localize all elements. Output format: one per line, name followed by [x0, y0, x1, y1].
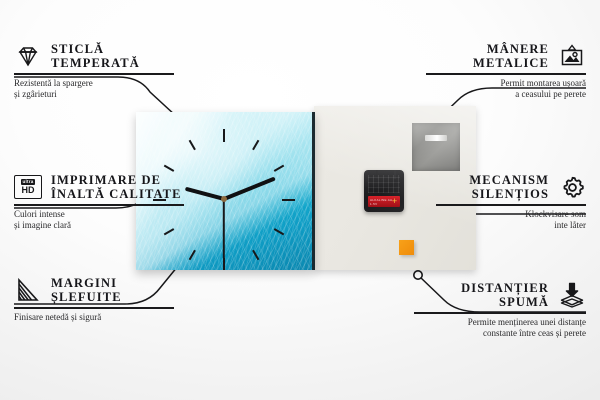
callout-title: MECANISM SILENȚIOS	[469, 173, 549, 201]
callout-sticla-temperata: STICLĂ TEMPERATĂ Rezistentă la spargere …	[14, 42, 174, 100]
callout-imprimare-inalta-calitate: ultra HD IMPRIMARE DE ÎNALTĂ CALITATE Cu…	[14, 173, 184, 231]
battery: ALKALINE AA 1.5V +	[368, 196, 400, 207]
diamond-icon	[14, 42, 42, 70]
callout-description: Permite menținerea unei distanțe constan…	[414, 317, 586, 339]
infographic-canvas: ALKALINE AA 1.5V +	[0, 0, 600, 400]
mechanism-vent-grid	[368, 175, 400, 193]
battery-plus-terminal: +	[391, 197, 398, 205]
connector-dot-distantier	[414, 271, 422, 279]
ultra-hd-top-label: ultra	[21, 179, 36, 185]
gear-icon	[558, 173, 586, 201]
clock-mechanism: ALKALINE AA 1.5V +	[364, 170, 404, 212]
callout-rule	[14, 307, 174, 309]
callout-mecanism-silentios: MECANISM SILENȚIOS Klockvisare som inte …	[436, 173, 586, 231]
callout-description: Finisare netedă și sigură	[14, 312, 174, 323]
metal-hanger-plate	[412, 123, 460, 171]
callout-rule	[426, 73, 586, 75]
callout-title: IMPRIMARE DE ÎNALTĂ CALITATE	[51, 173, 182, 201]
callout-manere-metalice: MÂNERE METALICE Permit montarea ușoară a…	[426, 42, 586, 100]
callout-rule	[14, 204, 184, 206]
callout-distantier-spuma: DISTANȚIER SPUMĂ Permite menținerea unei…	[414, 281, 586, 339]
product-illustration: ALKALINE AA 1.5V +	[136, 104, 476, 272]
battery-label: ALKALINE AA 1.5V	[370, 198, 400, 206]
callout-title: STICLĂ TEMPERATĂ	[51, 42, 140, 70]
hanger-slot	[425, 135, 447, 141]
callout-rule	[436, 204, 586, 206]
callout-description: Culori intense și imagine clară	[14, 209, 184, 231]
ultra-hd-main-label: HD	[22, 186, 35, 195]
mechanism-hanging-loop	[376, 170, 396, 179]
callout-title: DISTANȚIER SPUMĂ	[461, 281, 549, 309]
clock-center-cap	[221, 196, 227, 202]
foam-spacer	[399, 240, 414, 255]
callout-rule	[14, 73, 174, 75]
callout-description: Rezistentă la spargere și zgârieturi	[14, 78, 174, 100]
callout-title: MARGINI ȘLEFUITE	[51, 276, 122, 304]
callout-description: Klockvisare som inte låter	[436, 209, 586, 231]
beveled-edge-icon	[14, 276, 42, 304]
callout-description: Permit montarea ușoară a ceasului pe per…	[426, 78, 586, 100]
clock-second-hand	[223, 199, 225, 259]
callout-rule	[414, 312, 586, 314]
callout-margini-slefuite: MARGINI ȘLEFUITE Finisare netedă și sigu…	[14, 276, 174, 323]
foam-spacer-arrow-icon	[558, 281, 586, 309]
callout-title: MÂNERE METALICE	[473, 42, 549, 70]
ultra-hd-icon: ultra HD	[14, 173, 42, 201]
picture-frame-hanger-icon	[558, 42, 586, 70]
